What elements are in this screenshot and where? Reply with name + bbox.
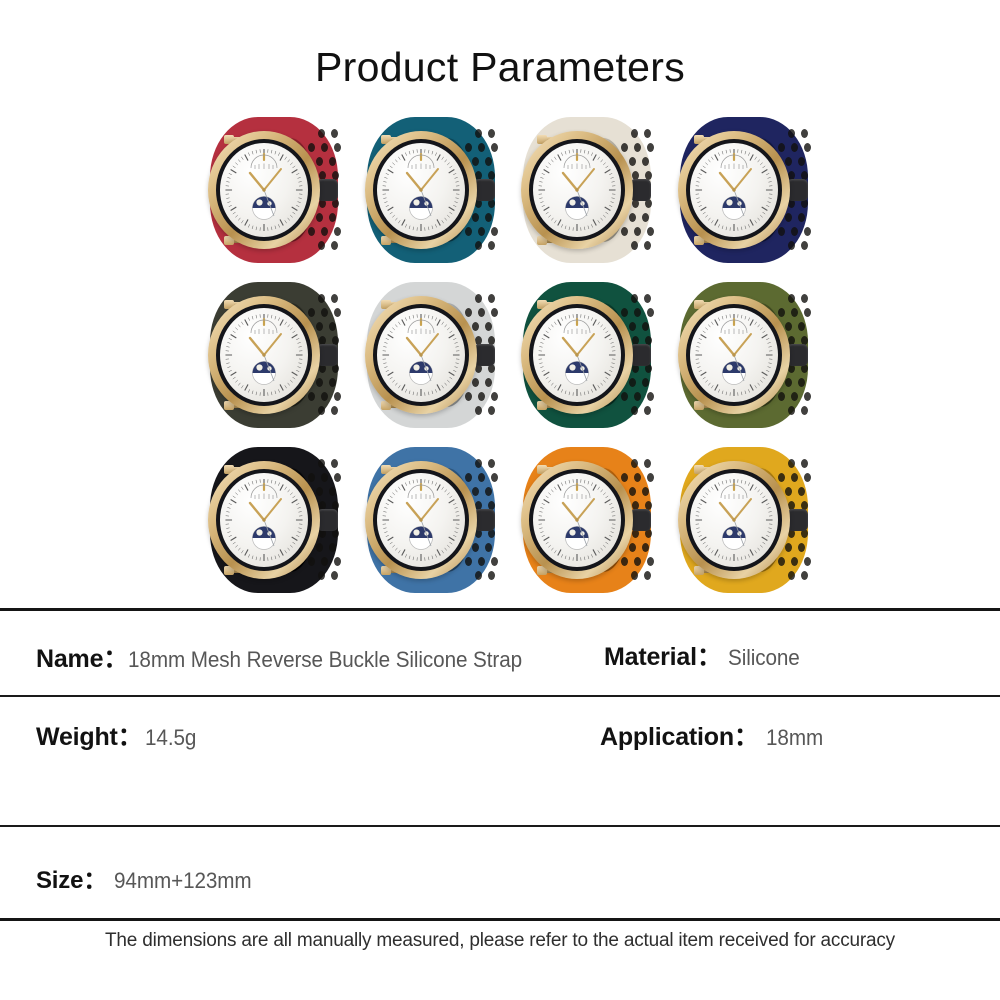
strap-perforation [475,459,482,468]
strap-perforation [491,143,498,152]
watch-case [365,461,477,579]
strap-perforation [316,213,323,222]
strap-perforation [478,473,485,482]
gallery-item[interactable] [670,439,821,600]
watch-case [678,131,790,249]
watch-case [365,296,477,414]
strap-perforation [321,227,328,236]
strap-perforation [329,487,336,496]
strap-perforation [629,322,636,331]
watch-bezel [216,304,312,406]
strap-perforation [791,308,798,317]
strap-perforation [308,473,315,482]
strap-perforation [485,378,492,387]
reverse-buckle [630,344,651,366]
spec-value-size: 94mm+123mm [114,868,252,894]
strap-perforation [475,129,482,138]
watch-bezel [529,469,625,571]
strap-perforation [334,392,341,401]
strap-perforation [491,308,498,317]
strap-perforation [644,129,651,138]
gallery-item[interactable] [513,439,664,600]
strap-perforation [788,571,795,580]
watch-dial [220,143,308,237]
strap-perforation [334,308,341,317]
watch-black[interactable] [202,445,348,595]
strap-perforation [791,227,798,236]
watch-orange[interactable] [515,445,661,595]
watch-case [678,296,790,414]
gallery-item[interactable] [357,439,508,600]
gallery-item[interactable] [200,110,351,271]
reverse-buckle [787,179,808,201]
product-color-gallery [200,110,820,600]
watch-dark-green[interactable] [515,280,661,430]
strap-perforation [485,157,492,166]
watch-bezel [373,139,469,241]
strap-perforation [488,406,495,415]
spec-field-size: Size： 94mm+123mm [36,860,260,895]
strap-perforation [631,571,638,580]
reverse-buckle [474,179,495,201]
strap-perforation [478,557,485,566]
strap-perforation [334,227,341,236]
strap-perforation [647,557,654,566]
strap-perforation [778,227,785,236]
strap-perforation [791,392,798,401]
strap-perforation [621,473,628,482]
strap-perforation [778,392,785,401]
watch-dial [690,473,778,567]
watch-light-gray[interactable] [359,280,505,430]
strap-perforation [321,473,328,482]
reverse-buckle [474,509,495,531]
reverse-buckle [630,509,651,531]
strap-perforation [318,129,325,138]
strap-perforation [475,294,482,303]
strap-perforation [785,543,792,552]
strap-perforation [318,406,325,415]
strap-perforation [798,157,805,166]
strap-perforation [485,543,492,552]
strap-perforation [785,487,792,496]
spec-row-name: Name： 18mm Mesh Reverse Buckle Silicone … [0,611,1000,695]
strap-perforation [491,473,498,482]
reverse-buckle [317,179,338,201]
strap-perforation [804,143,811,152]
strap-perforation [491,227,498,236]
watch-dial [377,473,465,567]
strap-perforation [647,308,654,317]
watch-case [208,131,320,249]
strap-perforation [642,213,649,222]
spec-row-size: Size： 94mm+123mm [0,827,1000,918]
spec-field-weight: Weight： 14.5g [36,717,200,753]
strap-perforation [331,459,338,468]
watch-dark-olive[interactable] [202,280,348,430]
strap-perforation [785,322,792,331]
strap-perforation [318,241,325,250]
strap-perforation [634,392,641,401]
spec-label-weight: Weight： [36,717,142,753]
strap-perforation [478,308,485,317]
strap-perforation [465,308,472,317]
watch-case [208,461,320,579]
reverse-buckle [317,344,338,366]
strap-perforation [778,143,785,152]
strap-perforation [621,308,628,317]
strap-perforation [778,308,785,317]
strap-perforation [647,227,654,236]
reverse-buckle [787,344,808,366]
reverse-buckle [317,509,338,531]
strap-perforation [488,459,495,468]
strap-perforation [329,378,336,387]
strap-perforation [472,213,479,222]
strap-perforation [465,392,472,401]
strap-perforation [318,294,325,303]
watch-bezel [686,469,782,571]
strap-perforation [331,571,338,580]
watch-dial [220,473,308,567]
strap-perforation [465,473,472,482]
strap-perforation [785,378,792,387]
strap-perforation [331,241,338,250]
watch-bezel [686,304,782,406]
watch-bezel [216,469,312,571]
strap-perforation [316,378,323,387]
strap-perforation [465,557,472,566]
reverse-buckle [630,179,651,201]
spec-value-material: Silicone [728,645,800,671]
strap-perforation [791,473,798,482]
strap-perforation [316,322,323,331]
strap-perforation [485,213,492,222]
strap-perforation [472,543,479,552]
strap-perforation [472,487,479,496]
spec-value-name: 18mm Mesh Reverse Buckle Silicone Strap [128,647,522,673]
strap-perforation [644,459,651,468]
strap-perforation [321,557,328,566]
strap-perforation [629,378,636,387]
strap-perforation [318,459,325,468]
watch-case [208,296,320,414]
strap-perforation [491,557,498,566]
watch-bezel [373,469,469,571]
strap-perforation [778,473,785,482]
strap-perforation [334,143,341,152]
strap-perforation [465,227,472,236]
gallery-item[interactable] [670,110,821,271]
strap-perforation [634,227,641,236]
strap-perforation [629,157,636,166]
footer-note: The dimensions are all manually measured… [0,930,1000,952]
strap-perforation [644,571,651,580]
strap-perforation [621,392,628,401]
strap-perforation [788,459,795,468]
strap-perforation [644,406,651,415]
strap-perforation [334,557,341,566]
watch-army-green[interactable] [672,280,818,430]
spec-table: Name： 18mm Mesh Reverse Buckle Silicone … [0,608,1000,921]
strap-perforation [634,308,641,317]
watch-blue[interactable] [359,445,505,595]
gallery-item[interactable] [513,275,664,436]
strap-perforation [472,157,479,166]
strap-perforation [631,294,638,303]
strap-perforation [488,241,495,250]
strap-perforation [644,241,651,250]
strap-perforation [491,392,498,401]
spec-field-name: Name： 18mm Mesh Reverse Buckle Silicone … [36,639,547,675]
strap-perforation [472,322,479,331]
watch-bezel [529,139,625,241]
strap-perforation [798,487,805,496]
strap-perforation [629,487,636,496]
gallery-item[interactable] [357,275,508,436]
watch-case [521,461,633,579]
strap-perforation [465,143,472,152]
strap-perforation [629,543,636,552]
gallery-item[interactable] [357,110,508,271]
strap-perforation [475,571,482,580]
strap-perforation [647,473,654,482]
strap-perforation [488,129,495,138]
spec-value-application: 18mm [766,725,823,751]
strap-perforation [316,157,323,166]
watch-navy[interactable] [672,115,818,265]
strap-perforation [634,143,641,152]
strap-perforation [785,157,792,166]
watch-bezel [216,139,312,241]
strap-perforation [488,294,495,303]
strap-perforation [329,213,336,222]
strap-perforation [642,322,649,331]
strap-perforation [804,473,811,482]
strap-perforation [321,392,328,401]
divider-bottom [0,918,1000,921]
watch-case [521,131,633,249]
strap-perforation [478,227,485,236]
strap-perforation [631,406,638,415]
strap-perforation [475,241,482,250]
strap-perforation [308,308,315,317]
strap-perforation [642,378,649,387]
watch-bezel [529,304,625,406]
strap-perforation [642,157,649,166]
spec-label-application: Application： [600,717,759,753]
strap-perforation [308,143,315,152]
watch-dial [377,143,465,237]
strap-perforation [308,557,315,566]
strap-perforation [642,543,649,552]
strap-perforation [629,213,636,222]
spec-row-weight: Weight： 14.5g Application： 18mm [0,697,1000,825]
strap-perforation [647,143,654,152]
watch-bezel [373,304,469,406]
reverse-buckle [787,509,808,531]
watch-case [521,296,633,414]
strap-perforation [329,543,336,552]
watch-starlight[interactable] [515,115,661,265]
strap-perforation [478,143,485,152]
strap-perforation [791,143,798,152]
strap-perforation [644,294,651,303]
strap-perforation [329,157,336,166]
gallery-item[interactable] [200,439,351,600]
watch-dial [533,308,621,402]
strap-perforation [778,557,785,566]
spec-label-name: Name： [36,639,128,675]
spec-label-size: Size： [36,860,107,895]
watch-dial [533,143,621,237]
strap-perforation [788,294,795,303]
spec-field-application: Application： 18mm [600,717,826,753]
strap-perforation [472,378,479,387]
gallery-item[interactable] [513,110,664,271]
reverse-buckle [474,344,495,366]
strap-perforation [321,308,328,317]
strap-perforation [798,322,805,331]
strap-perforation [478,392,485,401]
strap-perforation [798,378,805,387]
strap-perforation [621,227,628,236]
strap-perforation [804,227,811,236]
strap-perforation [785,213,792,222]
gallery-item[interactable] [200,275,351,436]
strap-perforation [791,557,798,566]
strap-perforation [621,557,628,566]
strap-perforation [801,406,808,415]
strap-perforation [801,294,808,303]
strap-perforation [331,406,338,415]
strap-perforation [634,557,641,566]
watch-dial [220,308,308,402]
strap-perforation [318,571,325,580]
strap-perforation [329,322,336,331]
strap-perforation [321,143,328,152]
strap-perforation [331,294,338,303]
strap-perforation [801,571,808,580]
strap-perforation [621,143,628,152]
strap-perforation [475,406,482,415]
watch-case [678,461,790,579]
spec-field-material: Material： Silicone [604,637,804,673]
watch-case [365,131,477,249]
strap-perforation [788,129,795,138]
strap-perforation [488,571,495,580]
spec-value-weight: 14.5g [145,725,196,751]
strap-perforation [788,241,795,250]
watch-red[interactable] [202,115,348,265]
watch-teal[interactable] [359,115,505,265]
strap-perforation [801,459,808,468]
strap-perforation [788,406,795,415]
strap-perforation [642,487,649,496]
strap-perforation [798,543,805,552]
strap-perforation [804,308,811,317]
strap-perforation [316,543,323,552]
strap-perforation [308,227,315,236]
strap-perforation [631,241,638,250]
strap-perforation [804,392,811,401]
strap-perforation [631,129,638,138]
watch-bezel [686,139,782,241]
page-title: Product Parameters [0,44,1000,91]
watch-dial [533,473,621,567]
strap-perforation [798,213,805,222]
strap-perforation [801,129,808,138]
strap-perforation [631,459,638,468]
strap-perforation [308,392,315,401]
spec-label-material: Material： [604,637,722,673]
strap-perforation [801,241,808,250]
strap-perforation [634,473,641,482]
watch-dial [377,308,465,402]
strap-perforation [647,392,654,401]
watch-dial [690,143,778,237]
gallery-item[interactable] [670,275,821,436]
watch-dial [690,308,778,402]
strap-perforation [485,487,492,496]
strap-perforation [485,322,492,331]
strap-perforation [804,557,811,566]
strap-perforation [316,487,323,496]
watch-yellow[interactable] [672,445,818,595]
strap-perforation [331,129,338,138]
strap-perforation [334,473,341,482]
